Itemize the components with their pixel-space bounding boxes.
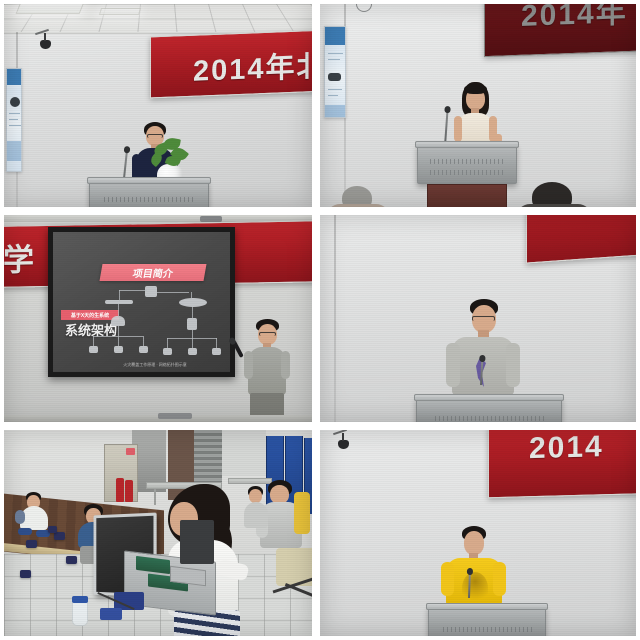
collage-panel-4	[316, 211, 640, 426]
panel-4-scene	[320, 215, 636, 422]
floor-object	[158, 413, 192, 419]
robot-unit	[20, 570, 31, 578]
podium-vent	[430, 159, 506, 164]
shirt-graphic	[462, 572, 488, 604]
arm	[15, 510, 25, 524]
diagram-leaf	[114, 346, 123, 353]
podium	[417, 144, 517, 184]
security-camera-icon	[40, 40, 51, 49]
rear-wall-panel	[222, 430, 266, 476]
diagram-node-root	[145, 286, 157, 297]
security-camera-icon	[338, 440, 349, 449]
robot-unit	[26, 540, 37, 548]
diagram-edge	[157, 292, 189, 293]
water-bottle	[72, 600, 88, 626]
robot-unit	[48, 526, 57, 533]
poster-text-line	[328, 59, 340, 60]
presenter-person	[440, 526, 506, 610]
rear-window	[194, 430, 222, 488]
laptop-lid	[180, 520, 214, 564]
diagram-edge	[192, 307, 193, 319]
photo-collage: 2014年北	[0, 0, 640, 640]
panel-6-scene: 2014	[320, 430, 636, 636]
arm-left	[446, 343, 460, 387]
panel-3-scene: 学 科技创 项目简介 基于X天的生系统 系统架构	[4, 215, 312, 422]
glasses-icon	[472, 316, 495, 321]
arm-left	[441, 562, 454, 596]
audience-body	[516, 204, 592, 207]
diagram-edge	[118, 326, 119, 336]
slide-tag: 基于X天的生系统	[61, 310, 119, 320]
event-banner-text: 2014年	[521, 4, 628, 35]
projection-screen: 项目简介 基于X天的生系统 系统架构	[48, 227, 235, 377]
diagram-edge	[119, 290, 147, 291]
cabinet-label	[126, 448, 135, 455]
poster-text-line	[328, 53, 343, 54]
diagram-leaf	[188, 348, 197, 355]
poster-text-line	[328, 95, 338, 96]
collage-panel-3: 学 科技创 项目简介 基于X天的生系统 系统架构	[0, 211, 316, 426]
arm-left	[244, 351, 253, 379]
wall-corner	[334, 215, 336, 422]
poster-text-line	[9, 119, 18, 120]
diagram-node-cloud	[179, 298, 207, 307]
collage-panel-2: 2014年	[316, 0, 640, 211]
presenter-person	[244, 319, 290, 422]
diagram-edge	[192, 338, 193, 348]
audience-body	[326, 204, 390, 207]
arm-right	[506, 343, 520, 387]
wall-poster	[324, 26, 346, 118]
arm-left	[454, 116, 462, 142]
diagram-edge	[192, 330, 193, 338]
arm-right	[493, 562, 506, 596]
event-banner: 2014年	[484, 4, 636, 57]
podium-base	[427, 184, 507, 207]
event-banner: 2014	[488, 430, 636, 498]
head	[464, 531, 484, 555]
diagram-edge	[119, 290, 120, 301]
ceiling-light	[99, 8, 141, 15]
event-banner-text: 2014	[529, 430, 604, 466]
poster-text-line	[9, 113, 20, 114]
diagram-node-gateway	[111, 316, 125, 326]
ceiling-light	[16, 4, 85, 14]
event-banner	[526, 215, 636, 264]
podium	[89, 180, 209, 207]
podium-vent	[104, 197, 196, 202]
shoe	[18, 528, 32, 535]
diagram-node-device	[187, 318, 197, 330]
diagram-edge	[143, 336, 144, 346]
presenter-person	[444, 299, 522, 399]
slide-caption: 火灾覆盖工作原理 · 网络拓扑图示意	[105, 362, 205, 368]
collage-panel-5	[0, 426, 316, 640]
panel-1-scene: 2014年北	[4, 4, 312, 207]
panel-2-scene: 2014年	[320, 4, 636, 207]
arm-right	[281, 351, 290, 379]
panel-5-scene	[4, 430, 312, 636]
wall-poster	[6, 68, 22, 172]
robot-unit	[54, 532, 65, 540]
fire-extinguisher	[116, 478, 124, 502]
diagram-edge	[191, 292, 192, 299]
slide-title: 项目简介	[100, 264, 207, 281]
poster-image	[328, 73, 341, 81]
diagram-edge	[118, 336, 119, 346]
poster-band	[325, 105, 345, 118]
poster-text-line	[328, 89, 342, 90]
event-banner: 2014年北	[150, 30, 312, 99]
equipment-box	[100, 608, 122, 620]
podium-top	[87, 177, 211, 184]
diagram-leaf	[89, 346, 98, 353]
robot-unit	[66, 556, 77, 564]
student-person	[242, 486, 270, 534]
poster-band	[7, 141, 21, 161]
podium	[428, 606, 546, 636]
podium-top	[415, 141, 519, 148]
glasses-icon	[147, 134, 163, 138]
podium-vent	[430, 170, 506, 175]
presenter-person	[452, 82, 500, 148]
collage-panel-1: 2014年北	[0, 0, 316, 211]
shelf-leg	[154, 489, 156, 505]
diagram-leaf	[139, 346, 148, 353]
diagram-edge	[118, 304, 119, 317]
torso	[244, 502, 268, 528]
screen-surface: 项目简介 基于X天的生系统 系统架构	[53, 232, 230, 372]
podium-vent	[443, 627, 533, 632]
collage-panel-6: 2014	[316, 426, 640, 640]
bottle-cap	[72, 596, 88, 603]
poster-band	[325, 27, 345, 45]
hair-fringe	[464, 84, 487, 94]
poster-image	[10, 97, 20, 107]
diagram-edge	[93, 336, 94, 346]
poster-text-line	[9, 125, 21, 126]
podium-top	[426, 603, 548, 610]
yellow-bag	[294, 492, 310, 534]
diagram-leaf	[163, 348, 172, 355]
fire-extinguisher	[125, 480, 133, 502]
podium-top	[414, 394, 564, 401]
podium-vent	[435, 416, 545, 421]
podium	[416, 397, 562, 422]
diagram-edge	[216, 338, 217, 348]
glasses-icon	[259, 332, 276, 336]
diagram-leaf	[212, 348, 221, 355]
diagram-edge	[167, 338, 168, 348]
poster-band	[7, 69, 21, 85]
head	[249, 489, 262, 503]
event-banner-text: 2014年北	[193, 43, 312, 90]
